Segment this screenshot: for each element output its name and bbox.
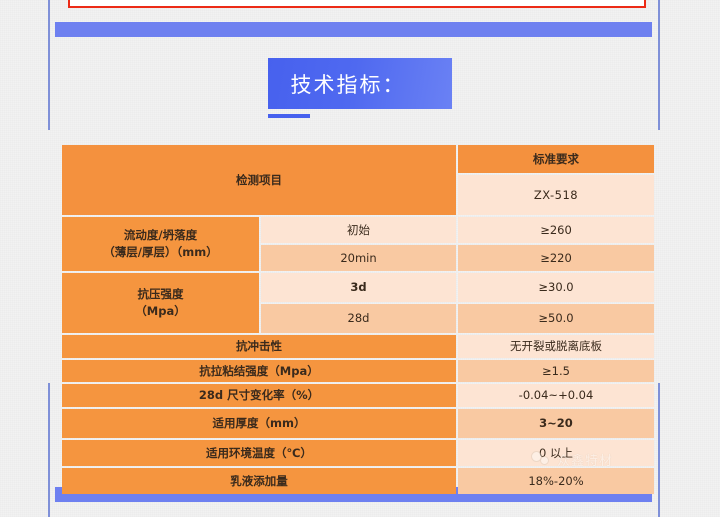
header-test-item: 检测项目 — [62, 145, 456, 215]
row-value-tensile-bond-strength: ≥1.5 — [458, 360, 654, 383]
value-28d: ≥50.0 — [458, 304, 654, 333]
row-label-line1: 抗压强度 — [64, 286, 257, 303]
technical-spec-table: 检测项目 标准要求 ZX-518 流动度/坍落度 （薄层/厚层）（mm） 初始 … — [60, 143, 656, 496]
header-standard-requirement: 标准要求 — [458, 145, 654, 173]
row-label-line2: （薄层/厚层）（mm） — [64, 244, 257, 261]
section-title-plate: 技术指标： — [268, 58, 452, 109]
decorative-vertical-rule-right-top — [658, 0, 660, 130]
value-initial: ≥260 — [458, 217, 654, 243]
decorative-blue-bar-top — [55, 22, 652, 37]
row-value-ambient-temperature: 0 以上 — [458, 440, 654, 466]
value-20min: ≥220 — [458, 245, 654, 271]
table-row: 抗拉粘结强度（Mpa） ≥1.5 — [62, 360, 654, 383]
row-label-applicable-thickness: 适用厚度（mm） — [62, 409, 456, 438]
row-label-ambient-temperature: 适用环境温度（℃） — [62, 440, 456, 466]
condition-28d: 28d — [261, 304, 456, 333]
row-label-compressive-strength: 抗压强度 （Mpa） — [62, 273, 259, 333]
row-label-dimensional-change: 28d 尺寸变化率（%） — [62, 384, 456, 407]
table-row: 乳液添加量 18%-20% — [62, 468, 654, 494]
row-value-applicable-thickness: 3~20 — [458, 409, 654, 438]
row-label-flowability: 流动度/坍落度 （薄层/厚层）（mm） — [62, 217, 259, 271]
previous-section-red-box — [68, 0, 646, 8]
row-label-tensile-bond-strength: 抗拉粘结强度（Mpa） — [62, 360, 456, 383]
value-3d: ≥30.0 — [458, 273, 654, 302]
table-row: 适用厚度（mm） 3~20 — [62, 409, 654, 438]
table-row: 28d 尺寸变化率（%） -0.04~+0.04 — [62, 384, 654, 407]
condition-3d: 3d — [261, 273, 456, 302]
table-row: 流动度/坍落度 （薄层/厚层）（mm） 初始 ≥260 — [62, 217, 654, 243]
row-label-emulsion-dosage: 乳液添加量 — [62, 468, 456, 494]
decorative-vertical-rule-left-top — [48, 0, 50, 130]
decorative-vertical-rule-left-bottom — [48, 383, 50, 517]
row-label-line2: （Mpa） — [64, 303, 257, 320]
row-value-emulsion-dosage: 18%-20% — [458, 468, 654, 494]
row-label-impact-resistance: 抗冲击性 — [62, 335, 456, 358]
table-header-row: 检测项目 标准要求 — [62, 145, 654, 173]
section-title-underline — [268, 114, 310, 118]
decorative-vertical-rule-right-bottom — [658, 383, 660, 517]
table-row: 抗压强度 （Mpa） 3d ≥30.0 — [62, 273, 654, 302]
condition-20min: 20min — [261, 245, 456, 271]
row-value-impact-resistance: 无开裂或脱离底板 — [458, 335, 654, 358]
row-label-line1: 流动度/坍落度 — [64, 227, 257, 244]
table-row: 适用环境温度（℃） 0 以上 — [62, 440, 654, 466]
row-value-dimensional-change: -0.04~+0.04 — [458, 384, 654, 407]
header-model-value: ZX-518 — [458, 175, 654, 215]
page-background: 技术指标： 检测项目 标准要求 ZX-518 流动度/坍落度 （薄层/厚层）（m… — [0, 0, 720, 517]
condition-initial: 初始 — [261, 217, 456, 243]
page-title: 技术指标： — [291, 69, 430, 99]
table-row: 抗冲击性 无开裂或脱离底板 — [62, 335, 654, 358]
